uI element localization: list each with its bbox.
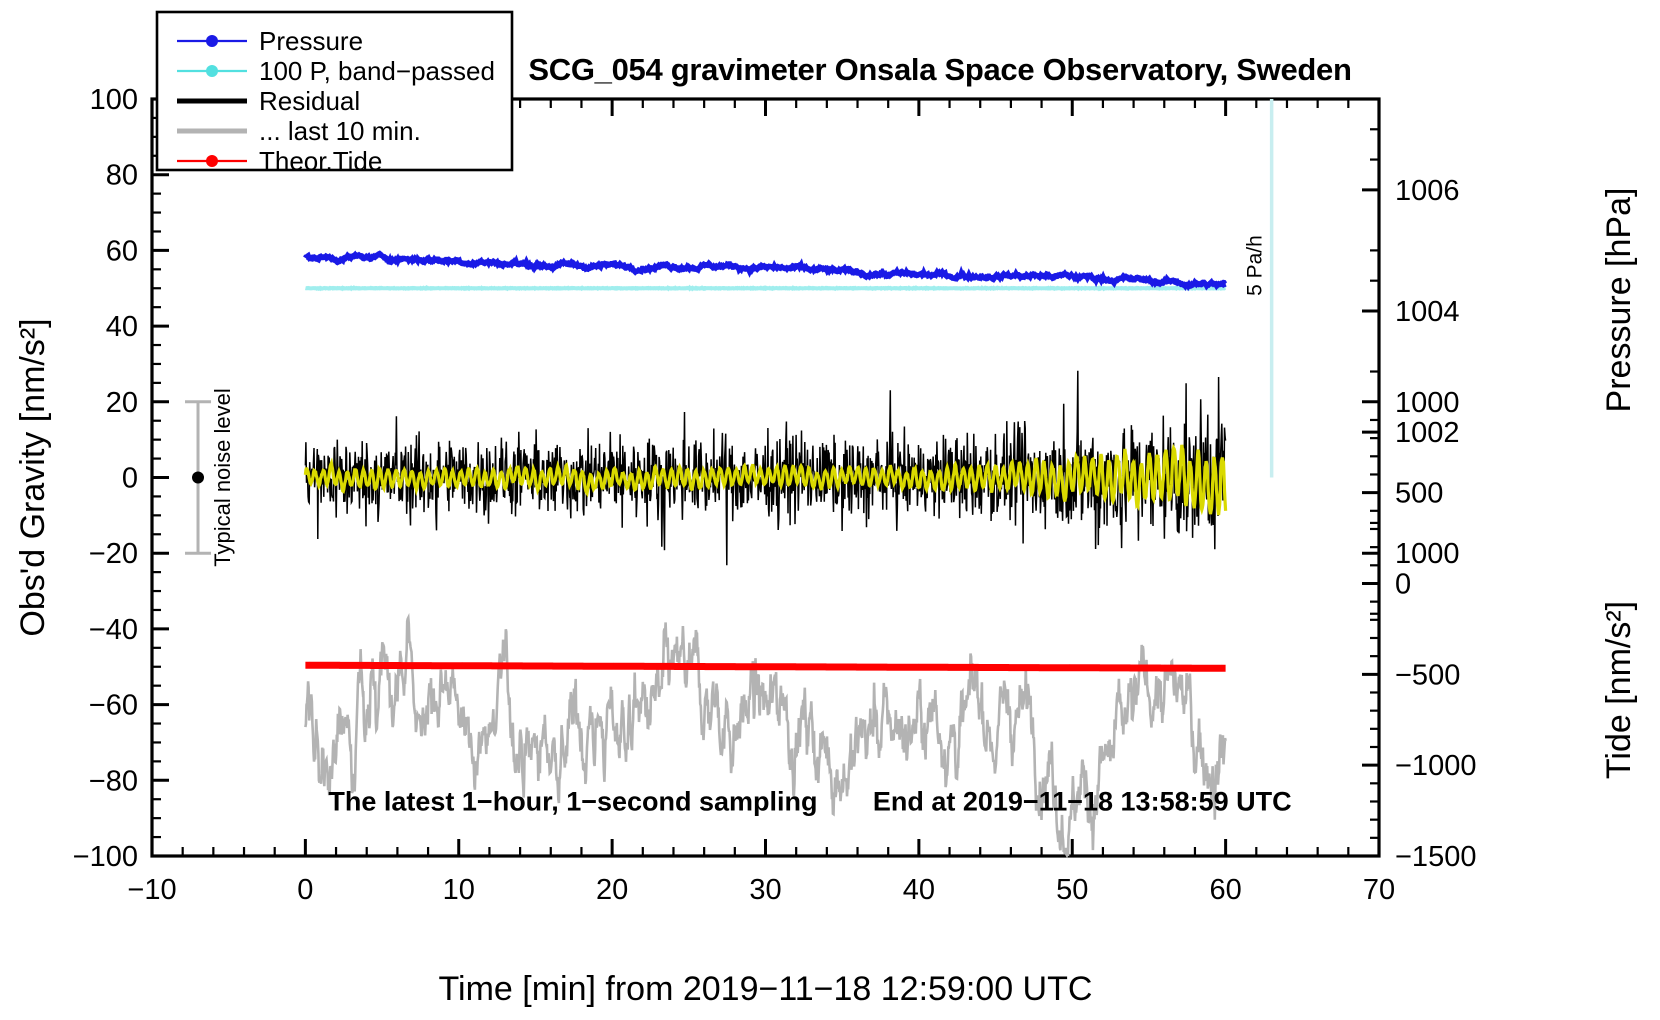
y-tick-label: −80 bbox=[89, 765, 138, 797]
tide-tick-label: −500 bbox=[1395, 659, 1460, 691]
legend-item-label: Theor.Tide bbox=[259, 146, 382, 176]
x-axis: −10010203040506070Time [min] from 2019−1… bbox=[127, 99, 1395, 1008]
legend[interactable]: Pressure100 P, band−passedResidual... la… bbox=[157, 12, 512, 176]
y-tick-label: 80 bbox=[106, 160, 138, 192]
x-tick-label: 50 bbox=[1056, 874, 1088, 906]
legend-item-label: ... last 10 min. bbox=[259, 116, 421, 146]
pressure-tick-label: 1002 bbox=[1395, 417, 1460, 449]
pressure-scale-bar: 5 Pa/h bbox=[1244, 99, 1272, 478]
x-tick-label: 60 bbox=[1209, 874, 1241, 906]
tide-tick-label: 1000 bbox=[1395, 387, 1460, 419]
series-theor-tide bbox=[305, 665, 1225, 668]
data-traces bbox=[305, 254, 1225, 856]
x-tick-label: 0 bbox=[297, 874, 313, 906]
tide-tick-label: 0 bbox=[1395, 568, 1411, 600]
y-tick-label: 0 bbox=[122, 463, 138, 495]
legend-item-label: Residual bbox=[259, 86, 360, 116]
chart-canvas: −10010203040506070Time [min] from 2019−1… bbox=[0, 0, 1660, 1020]
y-tick-label: −60 bbox=[89, 690, 138, 722]
pressure-tick-label: 1004 bbox=[1395, 296, 1460, 328]
legend-swatch-marker bbox=[206, 155, 218, 167]
tide-tick-label: 500 bbox=[1395, 478, 1443, 510]
y-tick-label: 40 bbox=[106, 311, 138, 343]
y-tick-label: −100 bbox=[73, 841, 138, 873]
y-tick-label: 100 bbox=[90, 84, 138, 116]
x-tick-label: 40 bbox=[903, 874, 935, 906]
pressure-tick-label: 1006 bbox=[1395, 175, 1460, 207]
plot-title: SCG_054 gravimeter Onsala Space Observat… bbox=[528, 52, 1351, 87]
y-axis-tide: −1500−1000−50005001000Tide [nm/s²] bbox=[1362, 387, 1638, 873]
y-tick-label: −40 bbox=[89, 614, 138, 646]
typical-noise-level: Typical noise level bbox=[185, 388, 235, 567]
y-axis-pressure: 1000100210041006Pressure [hPa] bbox=[1362, 129, 1638, 613]
legend-item-label: Pressure bbox=[259, 26, 363, 56]
pressure-tick-label: 1000 bbox=[1395, 538, 1460, 570]
x-tick-label: 70 bbox=[1363, 874, 1395, 906]
legend-swatch-marker bbox=[206, 35, 218, 47]
pressure-axis-title: Pressure [hPa] bbox=[1600, 188, 1638, 413]
footer-right-label: End at 2019−11−18 13:58:59 UTC bbox=[873, 787, 1292, 817]
legend-item-label: 100 P, band−passed bbox=[259, 56, 495, 86]
tide-tick-label: −1500 bbox=[1395, 841, 1476, 873]
series-last-10-min bbox=[305, 618, 1225, 856]
pressure-scale-bar-label: 5 Pa/h bbox=[1244, 235, 1267, 296]
y-tick-label: −20 bbox=[89, 538, 138, 570]
legend-swatch-marker bbox=[206, 65, 218, 77]
series-pressure bbox=[305, 254, 1225, 287]
x-tick-label: −10 bbox=[127, 874, 176, 906]
x-axis-title: Time [min] from 2019−11−18 12:59:00 UTC bbox=[439, 970, 1093, 1008]
tide-axis-title: Tide [nm/s²] bbox=[1600, 601, 1638, 779]
footer-left-label: The latest 1−hour, 1−second sampling bbox=[328, 787, 817, 817]
y-axis-left: −100−80−60−40−20020406080100Obs'd Gravit… bbox=[14, 84, 169, 873]
x-tick-label: 30 bbox=[749, 874, 781, 906]
typical-noise-level-label: Typical noise level bbox=[210, 388, 235, 567]
gravimeter-plot: −10010203040506070Time [min] from 2019−1… bbox=[0, 0, 1660, 1020]
x-tick-label: 20 bbox=[596, 874, 628, 906]
tide-tick-label: −1000 bbox=[1395, 750, 1476, 782]
x-tick-label: 10 bbox=[443, 874, 475, 906]
y-tick-label: 60 bbox=[106, 235, 138, 267]
y-tick-label: 20 bbox=[106, 387, 138, 419]
y-axis-title: Obs'd Gravity [nm/s²] bbox=[14, 318, 52, 636]
series-100p-bandpassed bbox=[305, 288, 1225, 289]
